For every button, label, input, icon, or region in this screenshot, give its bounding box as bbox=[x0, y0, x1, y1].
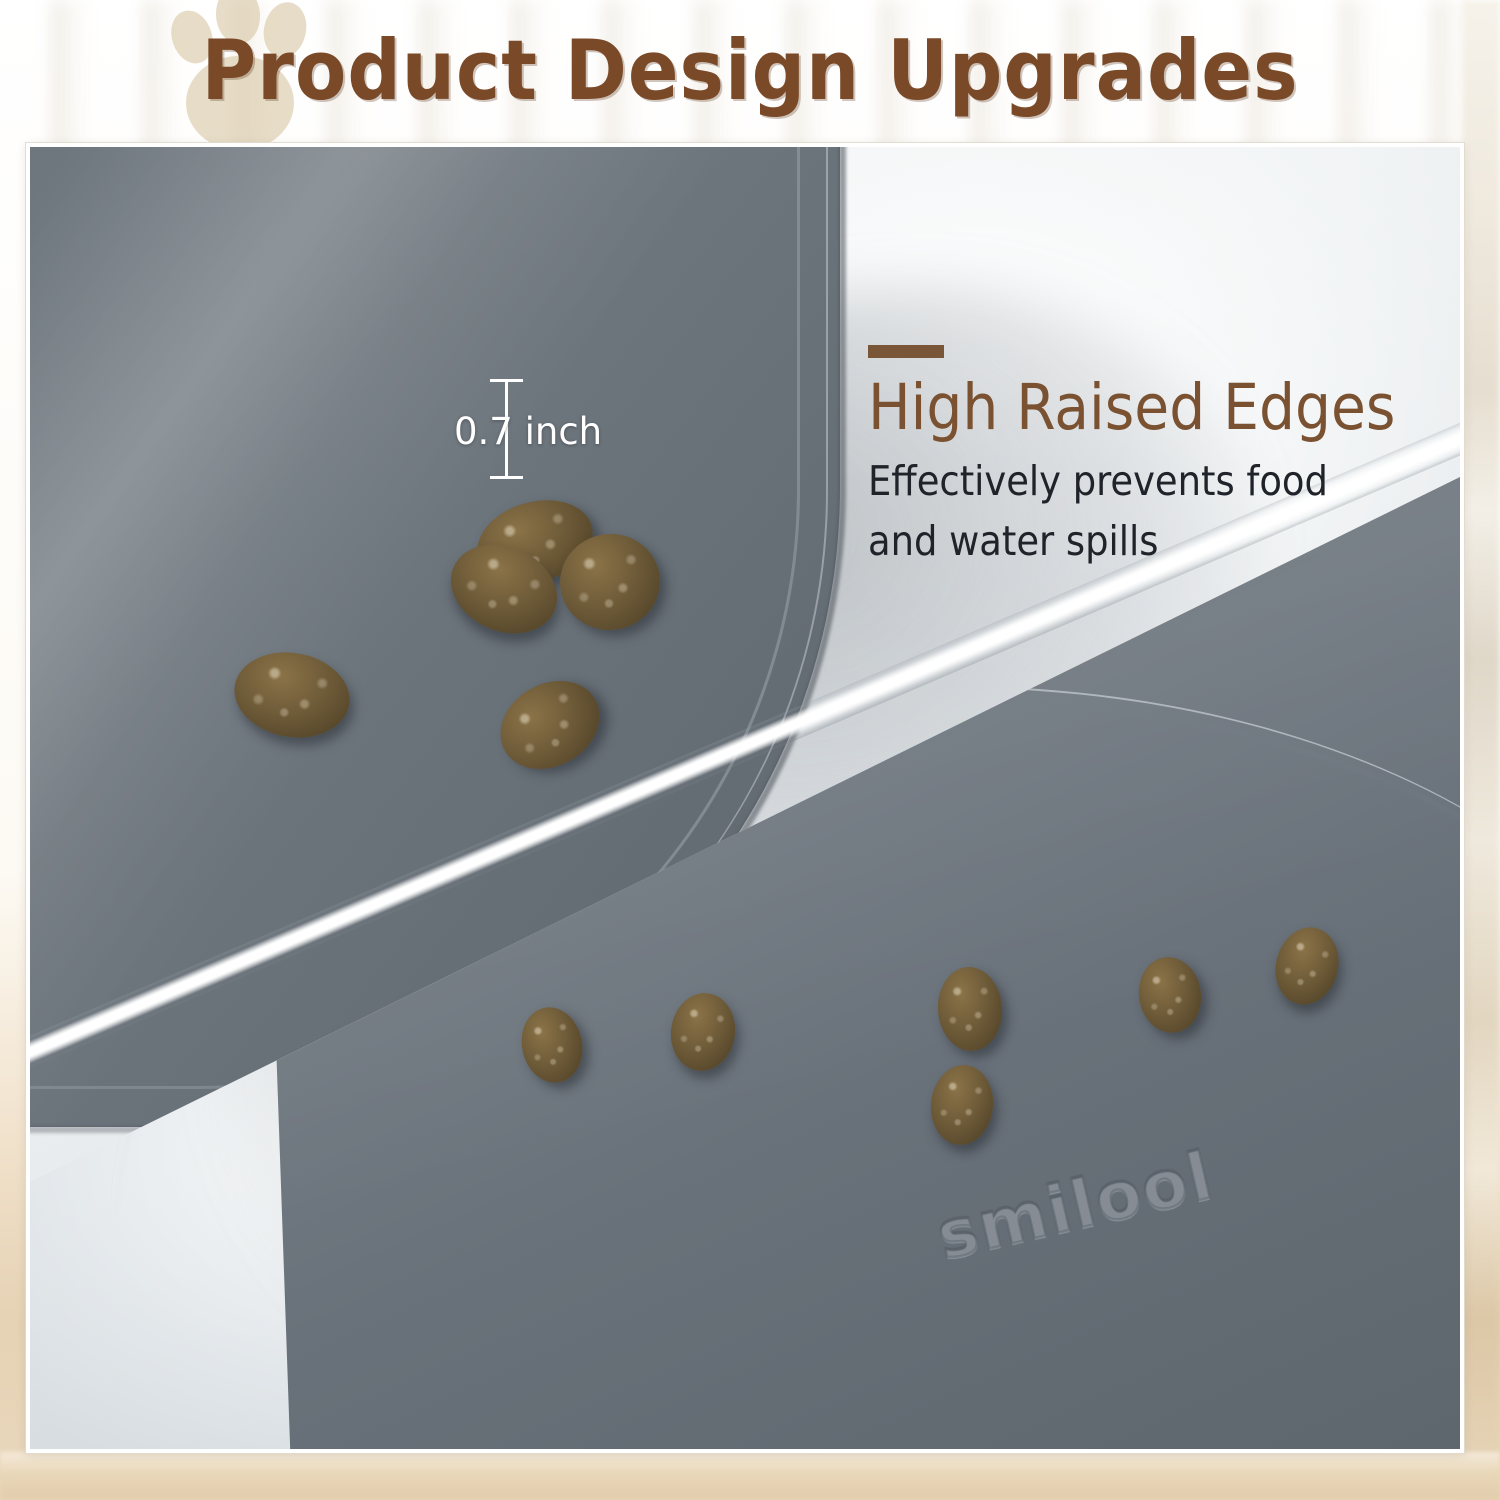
page-title: Product Design Upgrades bbox=[0, 12, 1500, 130]
callout-accent-dash bbox=[868, 345, 944, 358]
right-shelf-blur bbox=[1462, 0, 1500, 1500]
callout-title: High Raised Edges bbox=[868, 370, 1395, 446]
callout-subtitle-line2: and water spills bbox=[868, 516, 1395, 566]
product-photo: smilool 0.7 inch High Raised Edges Effec… bbox=[30, 147, 1460, 1449]
callout-high-raised-edges: High Raised Edges Effectively prevents f… bbox=[868, 345, 1395, 566]
callout-subtitle-line1: Effectively prevents food bbox=[868, 456, 1395, 506]
header-band: Product Design Upgrades bbox=[0, 0, 1500, 143]
product-photo-frame: smilool 0.7 inch High Raised Edges Effec… bbox=[26, 143, 1464, 1453]
product-infographic: Product Design Upgrades bbox=[0, 0, 1500, 1500]
dimension-label: 0.7 inch bbox=[454, 410, 602, 453]
wood-floor-blur bbox=[0, 1452, 1500, 1500]
